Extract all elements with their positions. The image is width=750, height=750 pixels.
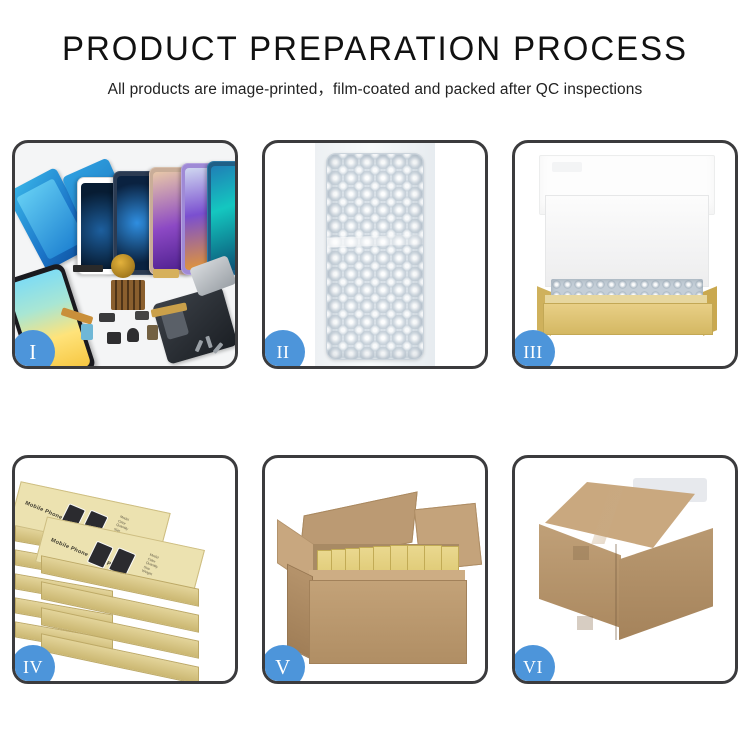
page-title: PRODUCT PREPARATION PROCESS	[11, 30, 739, 68]
page-subtitle: All products are image-printed，film-coat…	[0, 77, 750, 99]
step-numeral-vi: VI	[523, 657, 543, 678]
stacked-boxes-illustration: Mobile Phone Spare Parts Model Color Qua…	[15, 458, 235, 681]
open-carton-illustration	[265, 458, 485, 681]
product-parts-illustration	[15, 143, 235, 366]
bubble-wrap-pouch	[326, 153, 424, 360]
step-panel-iii: III	[512, 140, 738, 369]
step-panel-v: V	[262, 455, 488, 684]
step-numeral-iii: III	[523, 342, 542, 363]
carton-handle-cutout-bottom	[577, 616, 593, 630]
small-part-3	[127, 328, 139, 342]
step-numeral-v: V	[275, 655, 291, 680]
header: PRODUCT PREPARATION PROCESS All products…	[0, 0, 750, 99]
small-part-6	[135, 311, 149, 320]
step-badge-ii: II	[262, 330, 305, 369]
small-part-5	[99, 313, 115, 322]
step-badge-iii: III	[512, 330, 555, 369]
step-numeral-i: I	[29, 340, 37, 365]
product-preparation-infographic: PRODUCT PREPARATION PROCESS All products…	[0, 0, 750, 750]
flex-cable-3	[153, 269, 179, 278]
carton-front-right-face	[619, 528, 713, 640]
box-stack: Mobile Phone Spare Parts Model Color Qua…	[15, 472, 235, 678]
step-panel-iv: Mobile Phone Spare Parts Model Color Qua…	[12, 455, 238, 684]
white-foam-sheet	[545, 195, 709, 287]
carton-front-left-face	[539, 524, 621, 628]
wireless-charging-coil	[111, 254, 135, 278]
box-front-wall	[543, 303, 713, 335]
sealed-carton-illustration	[515, 458, 735, 681]
carton-front-face	[309, 580, 467, 664]
step-panel-ii: II	[262, 140, 488, 369]
step-panel-i: I	[12, 140, 238, 369]
step-badge-iv: IV	[12, 645, 55, 684]
steps-grid: I II III	[12, 140, 738, 684]
step-badge-v: V	[262, 645, 305, 684]
step-badge-i: I	[12, 330, 55, 369]
small-part-4	[147, 325, 158, 340]
step-numeral-ii: II	[277, 342, 290, 363]
carton-corner-seam	[615, 544, 617, 640]
small-part-2	[107, 332, 121, 344]
battery-strip	[73, 265, 103, 272]
inner-box-illustration	[515, 143, 735, 366]
carton-handle-cutout-top	[573, 546, 589, 560]
box-spec-text-2: Model Color Quantity Size Weight	[141, 553, 163, 578]
phone-fan-group	[77, 161, 227, 275]
screws-group	[195, 336, 225, 358]
connector-chip	[111, 280, 145, 310]
bubble-wrap-illustration	[265, 143, 485, 366]
step-badge-vi: VI	[512, 645, 555, 684]
small-part-1	[81, 324, 93, 340]
step-numeral-iv: IV	[23, 657, 43, 678]
step-panel-vi: VI	[512, 455, 738, 684]
